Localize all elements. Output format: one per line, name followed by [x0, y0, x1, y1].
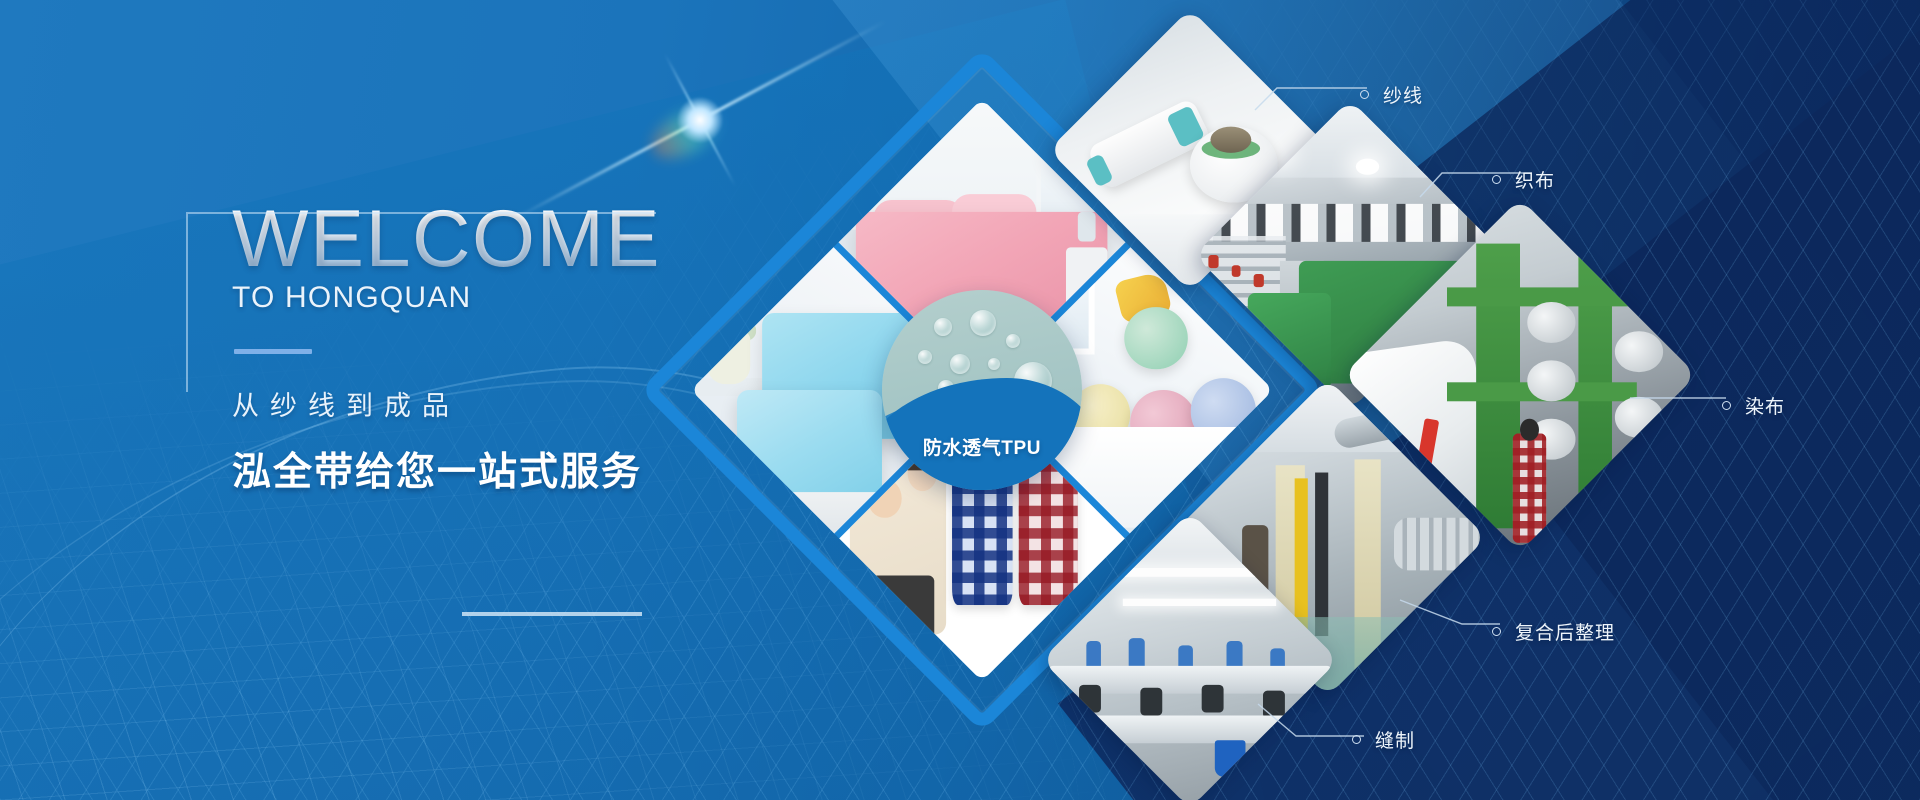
- water-droplet-icon: [934, 318, 952, 336]
- tpu-feature-badge[interactable]: 防水透气TPU: [882, 290, 1082, 490]
- bottom-divider: [462, 612, 642, 616]
- process-tile-sewing[interactable]: [1085, 555, 1295, 765]
- water-droplet-icon: [970, 310, 996, 336]
- hero-banner: WELCOME TO HONGQUAN 从纱线到成品 泓全带给您一站式服务: [0, 0, 1920, 800]
- water-droplet-icon: [950, 354, 970, 374]
- corner-bracket-decoration: [186, 212, 656, 392]
- water-droplet-icon: [918, 350, 932, 364]
- water-droplet-icon: [1006, 334, 1020, 348]
- water-droplet-icon: [988, 358, 1000, 370]
- tpu-badge-label: 防水透气TPU: [882, 433, 1082, 460]
